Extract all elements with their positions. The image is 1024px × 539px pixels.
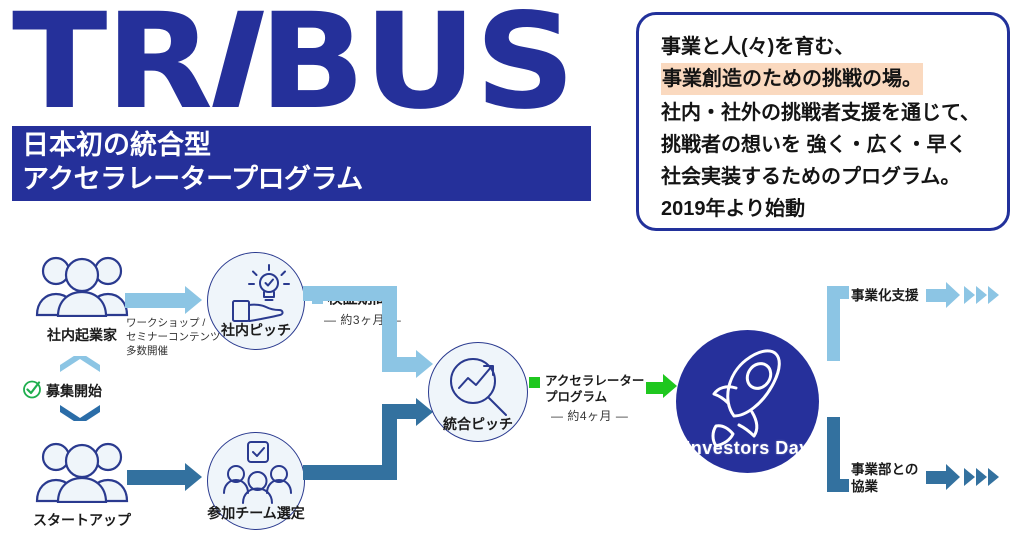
internal-pitch-label: 社内ピッチ [196,320,316,340]
mission-line-2-wrap: 事業創造のための挑戦の場。 [661,63,997,97]
accelerator-bullet-icon [529,377,540,388]
recruit-start-label: 募集開始 [46,381,102,401]
workshop-note-line-3: 多数開催 [126,344,221,358]
chevron-down-icon [58,404,102,426]
investors-day-label: Investors Day [676,438,819,459]
tagline-line-2: アクセラレータープログラム [22,162,363,196]
commercialization-label: 事業化支援 [851,287,919,304]
accelerator-duration: — 約4ヶ月 — [551,407,644,424]
team-selection-node: 参加チーム選定 [207,432,305,530]
recruit-start-check-icon [22,379,42,404]
team-selection-label: 参加チーム選定 [192,503,320,523]
mission-line-1: 事業と人(々)を育む、 [661,31,997,63]
mission-statement-card: 事業と人(々)を育む、 事業創造のための挑戦の場。 社内・社外の挑戦者支援を通じ… [636,12,1010,231]
investors-day-node: Investors Day [676,330,819,473]
infographic-canvas: TRIBUS 日本初の統合型 アクセラレータープログラム 事業と人(々)を育む、… [0,0,1024,539]
wordmark-part-2: BUS [259,0,574,139]
integrated-pitch-label: 統合ピッチ [419,414,537,434]
mission-line-3: 社内・社外の挑戦者支援を通じて、 [661,97,997,129]
mission-line-6: 2019年より始動 [661,193,997,225]
collaboration-label-line-2: 協業 [851,478,918,495]
tribus-wordmark: TRIBUS [12,0,573,128]
internal-pitch-node: 社内ピッチ [207,252,305,350]
accelerator-label-line-2: プログラム [545,389,644,405]
chevron-up-icon [58,356,102,378]
tagline-bar: 日本初の統合型 アクセラレータープログラム [12,126,591,201]
collaboration-label-line-1: 事業部との [851,461,918,478]
mission-line-5: 社会実装するためのプログラム。 [661,161,997,193]
internal-entrepreneur-people-icon [34,255,130,317]
integrated-pitch-node: 統合ピッチ [428,342,528,442]
tagline-line-1: 日本初の統合型 [22,128,363,162]
accelerator-program-block: アクセラレーター プログラム — 約4ヶ月 — [529,373,644,424]
tagline-text: 日本初の統合型 アクセラレータープログラム [22,128,363,196]
startup-people-icon [34,441,130,503]
startup-label: スタートアップ [10,510,154,530]
mission-line-4: 挑戦者の想いを 強く・広く・早く [661,129,997,161]
accelerator-label-line-1: アクセラレーター [545,373,644,389]
collaboration-label: 事業部との 協業 [851,461,918,495]
mission-line-2-highlighted: 事業創造のための挑戦の場。 [661,63,923,95]
wordmark-part-1: TR [12,0,211,139]
mission-lines: 事業と人(々)を育む、 事業創造のための挑戦の場。 社内・社外の挑戦者支援を通じ… [661,31,997,225]
